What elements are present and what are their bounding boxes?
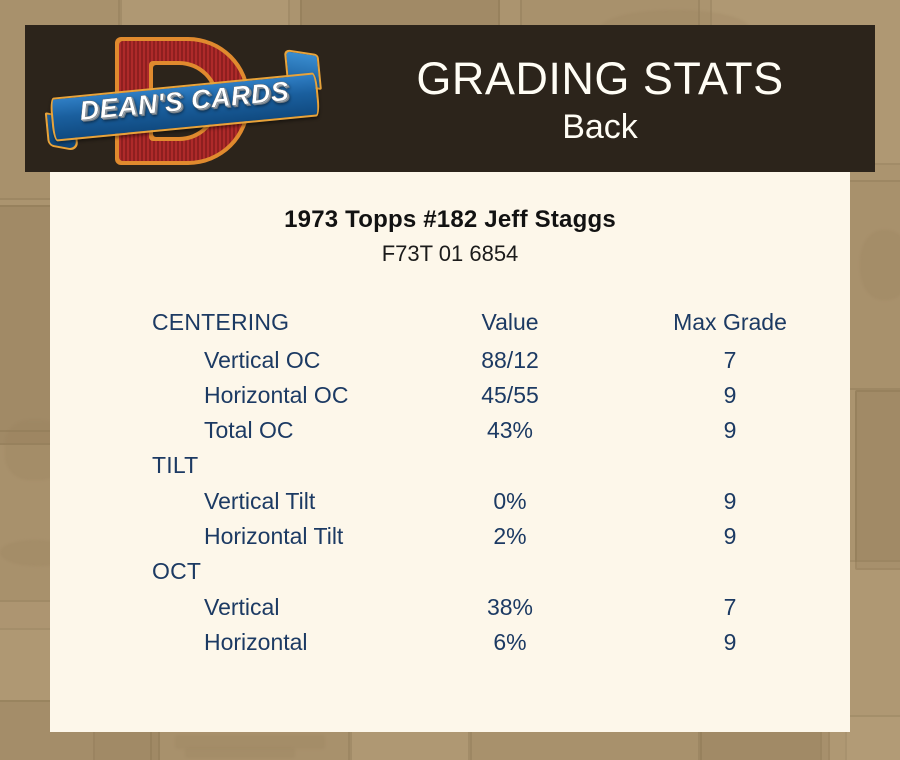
- section-spacer-value: [410, 560, 610, 596]
- content-panel: 1973 Topps #182 Jeff Staggs F73T 01 6854…: [50, 172, 850, 732]
- table-header-row: CENTERING Value Max Grade: [50, 311, 850, 349]
- row-label: Horizontal OC: [50, 384, 410, 419]
- table-row: Total OC 43% 9: [50, 419, 850, 454]
- header-bar: DEAN'S CARDS GRADING STATS Back: [25, 25, 875, 172]
- row-value: 88/12: [410, 349, 610, 384]
- row-grade: 9: [610, 631, 850, 666]
- row-value: 38%: [410, 596, 610, 631]
- column-header-value: Value: [410, 311, 610, 349]
- page-subtitle: Back: [562, 106, 638, 149]
- deans-cards-logo[interactable]: DEAN'S CARDS: [45, 29, 325, 169]
- row-grade: 9: [610, 419, 850, 454]
- section-spacer-grade: [610, 560, 850, 596]
- row-label: Vertical: [50, 596, 410, 631]
- row-grade: 9: [610, 525, 850, 560]
- row-label: Total OC: [50, 419, 410, 454]
- section-label-tilt: TILT: [50, 454, 410, 490]
- row-value: 43%: [410, 419, 610, 454]
- row-grade: 7: [610, 596, 850, 631]
- table-section-header: TILT: [50, 454, 850, 490]
- section-spacer-value: [410, 454, 610, 490]
- logo-ribbon-icon: DEAN'S CARDS: [43, 64, 328, 153]
- card-serial-number: F73T 01 6854: [50, 241, 850, 267]
- row-value: 2%: [410, 525, 610, 560]
- column-header-max-grade: Max Grade: [610, 311, 850, 349]
- row-label: Vertical OC: [50, 349, 410, 384]
- table-row: Horizontal OC 45/55 9: [50, 384, 850, 419]
- header-title-block: GRADING STATS Back: [325, 25, 875, 172]
- table-row: Vertical Tilt 0% 9: [50, 490, 850, 525]
- row-label: Horizontal: [50, 631, 410, 666]
- row-value: 6%: [410, 631, 610, 666]
- grading-stats-table: CENTERING Value Max Grade Vertical OC 88…: [50, 311, 850, 666]
- table-row: Vertical 38% 7: [50, 596, 850, 631]
- page-title: GRADING STATS: [416, 55, 783, 102]
- row-label: Vertical Tilt: [50, 490, 410, 525]
- table-row: Horizontal 6% 9: [50, 631, 850, 666]
- row-value: 0%: [410, 490, 610, 525]
- row-value: 45/55: [410, 384, 610, 419]
- grading-stats-body: Vertical OC 88/12 7 Horizontal OC 45/55 …: [50, 349, 850, 666]
- section-label-oct: OCT: [50, 560, 410, 596]
- section-spacer-grade: [610, 454, 850, 490]
- row-grade: 9: [610, 384, 850, 419]
- row-grade: 7: [610, 349, 850, 384]
- table-row: Horizontal Tilt 2% 9: [50, 525, 850, 560]
- card-name: 1973 Topps #182 Jeff Staggs: [50, 206, 850, 234]
- table-row: Vertical OC 88/12 7: [50, 349, 850, 384]
- row-label: Horizontal Tilt: [50, 525, 410, 560]
- row-grade: 9: [610, 490, 850, 525]
- column-header-centering: CENTERING: [50, 311, 410, 349]
- table-section-header: OCT: [50, 560, 850, 596]
